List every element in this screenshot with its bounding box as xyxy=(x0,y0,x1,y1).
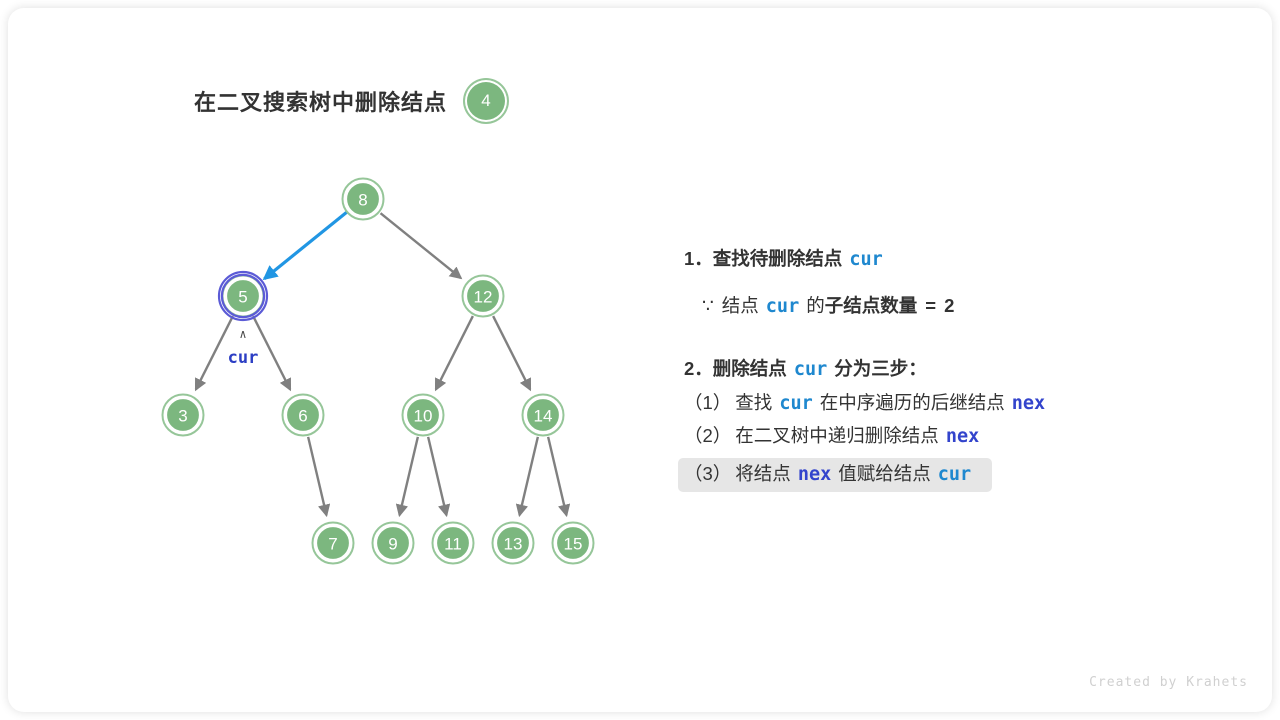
substep-text-before: 将结点 xyxy=(731,463,791,485)
substep-text-before: 在二叉树中递归删除结点 xyxy=(731,425,939,447)
substep-prefix: （1） xyxy=(684,392,731,414)
tree-edge xyxy=(253,316,290,389)
reason-equals: = xyxy=(917,295,944,317)
node-value-label: 12 xyxy=(474,288,493,307)
step-1-text: 查找待删除结点 xyxy=(713,248,843,270)
tree-node[interactable]: 9 xyxy=(373,523,414,564)
substep-row-3: （3）将结点nex值赋给结点cur xyxy=(678,458,992,492)
tree-node[interactable]: 7 xyxy=(313,523,354,564)
step-2-text: 删除结点 xyxy=(713,358,787,380)
node-value-label: 15 xyxy=(564,535,583,554)
tree-node[interactable]: 13 xyxy=(493,523,534,564)
step-2-code-cur: cur xyxy=(787,359,834,381)
tree-node[interactable]: 3 xyxy=(163,395,204,436)
reason-bold-text: 子结点数量 xyxy=(825,295,918,317)
step-2-prefix: 2． xyxy=(684,358,713,380)
tree-node[interactable]: 12 xyxy=(463,276,504,317)
tree-edge xyxy=(308,437,326,515)
tree-edge xyxy=(436,316,473,389)
tree-edge xyxy=(548,437,566,515)
tree-node[interactable]: 14 xyxy=(523,395,564,436)
substep-code-1: nex xyxy=(939,426,986,448)
reason-text-mid: 的 xyxy=(806,295,825,317)
node-value-label: 8 xyxy=(358,191,367,210)
node-value-label: 5 xyxy=(238,288,247,307)
reason-value: 2 xyxy=(944,295,954,317)
substeps-list: （1）查找cur在中序遍历的后继结点nex（2）在二叉树中递归删除结点nex（3… xyxy=(684,392,1224,493)
tree-edge xyxy=(380,213,460,278)
step-1-line: 1． 查找待删除结点 cur xyxy=(684,248,1224,271)
explanation-panel: 1． 查找待删除结点 cur ∵ 结点 cur 的 子结点数量 = 2 2． 删… xyxy=(684,248,1224,492)
substep-row-2: （2）在二叉树中递归删除结点nex xyxy=(684,425,1224,448)
substep-row-1: （1）查找cur在中序遍历的后继结点nex xyxy=(684,392,1224,415)
node-value-label: 10 xyxy=(414,407,433,426)
tree-node[interactable]: 15 xyxy=(553,523,594,564)
substep-code-1: nex xyxy=(791,464,838,486)
step-1-code-cur: cur xyxy=(842,249,889,271)
substep-prefix: （3） xyxy=(684,463,731,485)
tree-edge xyxy=(493,316,530,389)
step-2-text-after: 分为三步： xyxy=(834,358,927,380)
substep-code-1: cur xyxy=(772,393,819,415)
tree-node[interactable]: 8 xyxy=(343,179,384,220)
slide-card: 在二叉搜索树中删除结点 4 851236101479111315 ∧ cur 1… xyxy=(8,8,1272,712)
because-symbol-icon: ∵ xyxy=(702,295,714,317)
cur-pointer: ∧ cur xyxy=(228,327,259,368)
footer-credit: Created by Krahets xyxy=(1089,675,1248,690)
pointer-label: cur xyxy=(228,348,259,368)
tree-edge xyxy=(264,212,346,279)
node-value-label: 9 xyxy=(388,535,397,554)
substep-code-2: nex xyxy=(1005,393,1052,415)
tree-node[interactable]: 6 xyxy=(283,395,324,436)
reason-line: ∵ 结点 cur 的 子结点数量 = 2 xyxy=(684,295,1224,318)
node-value-label: 6 xyxy=(298,407,307,426)
node-value-label: 11 xyxy=(444,535,462,554)
tree-edge xyxy=(428,437,446,515)
substep-text-before: 查找 xyxy=(731,392,772,414)
node-value-label: 14 xyxy=(534,407,553,426)
node-value-label: 3 xyxy=(178,407,187,426)
substep-text-mid: 在中序遍历的后继结点 xyxy=(820,392,1005,414)
tree-edge xyxy=(400,437,418,515)
node-value-label: 13 xyxy=(504,535,523,554)
reason-text-before: 结点 xyxy=(714,295,759,317)
substep-prefix: （2） xyxy=(684,425,731,447)
reason-code-cur: cur xyxy=(759,296,806,318)
substep-code-2: cur xyxy=(931,464,978,486)
tree-edge xyxy=(520,437,538,515)
node-value-label: 7 xyxy=(328,535,337,554)
tree-node[interactable]: 10 xyxy=(403,395,444,436)
tree-node[interactable]: 11 xyxy=(433,523,474,564)
tree-nodes: 851236101479111315 xyxy=(163,179,594,564)
pointer-caret-icon: ∧ xyxy=(239,327,246,341)
step-2-line: 2． 删除结点 cur 分为三步： xyxy=(684,358,1224,381)
substep-text-mid: 值赋给结点 xyxy=(838,463,931,485)
step-1-prefix: 1． xyxy=(684,248,713,270)
tree-node[interactable]: 5 xyxy=(219,272,267,320)
